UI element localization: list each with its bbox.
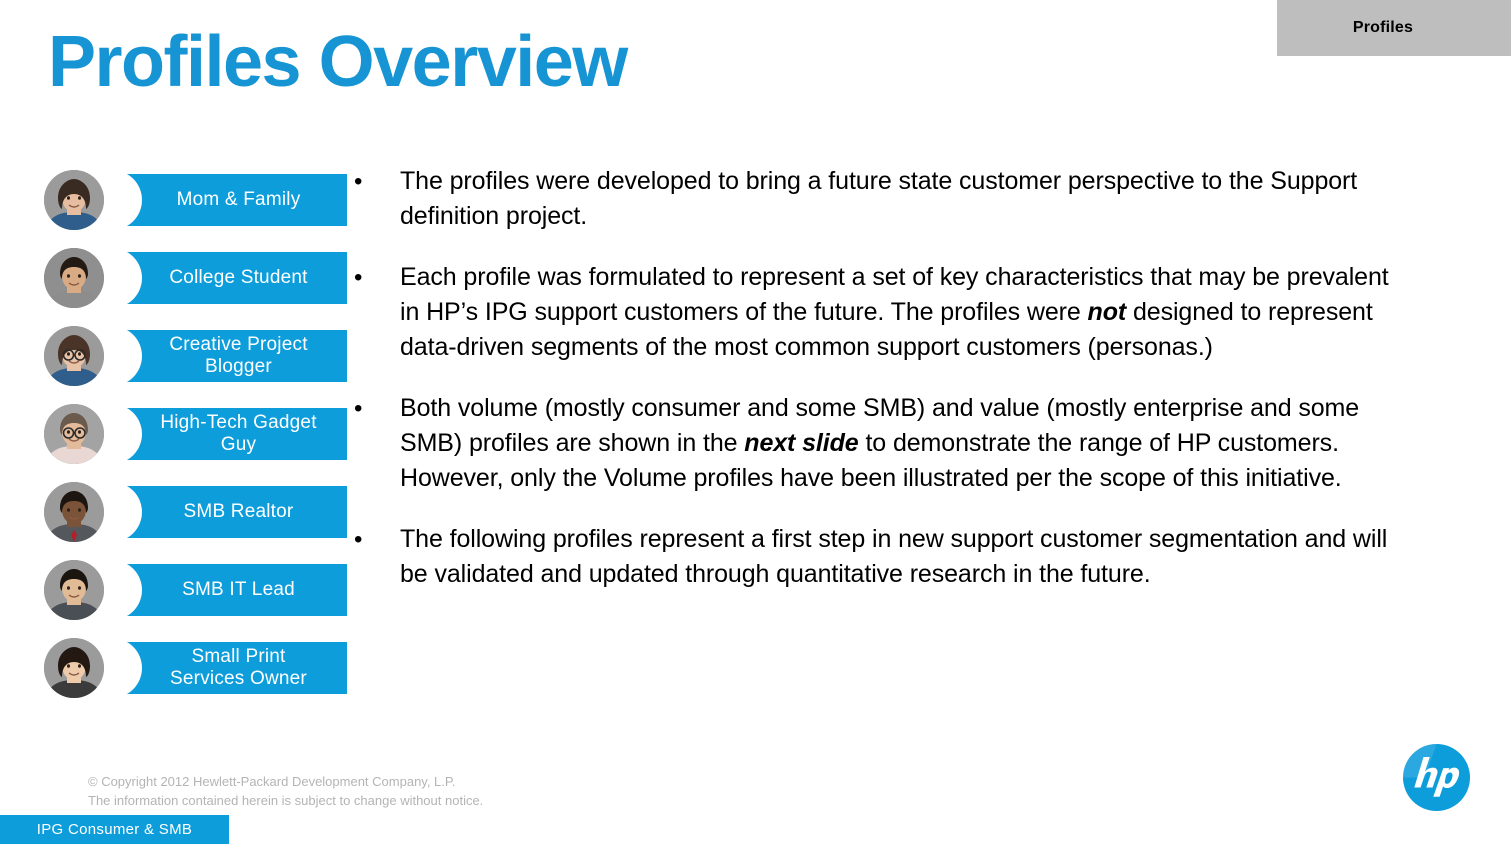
- avatar-high-tech-gadget-guy: [44, 404, 104, 464]
- bullet-marker-icon: •: [348, 164, 400, 200]
- hp-logo: [1403, 744, 1470, 811]
- page-title: Profiles Overview: [48, 26, 627, 98]
- profile-bar-label: Small PrintServices Owner: [170, 646, 307, 690]
- bullet-marker-icon: •: [348, 260, 400, 296]
- profile-item[interactable]: SMB IT Lead: [44, 564, 314, 616]
- footer-bar-label: IPG Consumer & SMB: [0, 821, 229, 838]
- bullet-item: •The following profiles represent a firs…: [348, 522, 1398, 592]
- avatar-smb-it-lead: [44, 560, 104, 620]
- profile-list: Mom & FamilyCollege StudentCreative Proj…: [44, 174, 314, 720]
- avatar-small-print-services-owner: [44, 638, 104, 698]
- bullet-marker-icon: •: [348, 522, 400, 558]
- profile-item[interactable]: Small PrintServices Owner: [44, 642, 314, 694]
- bullet-emphasis: next slide: [744, 429, 858, 457]
- profile-bar-label: SMB Realtor: [184, 501, 294, 523]
- body-copy-list: •The profiles were developed to bring a …: [348, 164, 1398, 618]
- bullet-run: The following profiles represent a first…: [400, 525, 1387, 588]
- avatar-smb-realtor: [44, 482, 104, 542]
- bullet-text: Both volume (mostly consumer and some SM…: [400, 391, 1398, 496]
- bullet-text: The following profiles represent a first…: [400, 522, 1398, 592]
- bullet-item: •Both volume (mostly consumer and some S…: [348, 391, 1398, 496]
- profile-bar-label: Mom & Family: [177, 189, 301, 211]
- avatar-college-student: [44, 248, 104, 308]
- slide-canvas: Profiles Profiles Overview Mom & FamilyC…: [0, 0, 1511, 844]
- bullet-item: •The profiles were developed to bring a …: [348, 164, 1398, 234]
- bullet-run: The profiles were developed to bring a f…: [400, 167, 1357, 230]
- section-tab-label: Profiles: [1277, 19, 1489, 37]
- bullet-text: Each profile was formulated to represent…: [400, 260, 1398, 365]
- profile-bar-label: College Student: [169, 267, 307, 289]
- footer-bar: IPG Consumer & SMB: [0, 815, 229, 844]
- bullet-emphasis: not: [1088, 298, 1127, 326]
- bullet-text: The profiles were developed to bring a f…: [400, 164, 1398, 234]
- section-tab[interactable]: Profiles: [1277, 0, 1511, 56]
- profile-item[interactable]: SMB Realtor: [44, 486, 314, 538]
- avatar-mom-family: [44, 170, 104, 230]
- profile-item[interactable]: Creative ProjectBlogger: [44, 330, 314, 382]
- profile-bar-label: Creative ProjectBlogger: [169, 334, 307, 378]
- profile-item[interactable]: Mom & Family: [44, 174, 314, 226]
- bullet-item: •Each profile was formulated to represen…: [348, 260, 1398, 365]
- bullet-marker-icon: •: [348, 391, 400, 427]
- copyright-text: © Copyright 2012 Hewlett-Packard Develop…: [88, 772, 483, 810]
- profile-bar-label: SMB IT Lead: [182, 579, 295, 601]
- profile-item[interactable]: College Student: [44, 252, 314, 304]
- avatar-creative-project-blogger: [44, 326, 104, 386]
- profile-bar-label: High-Tech GadgetGuy: [160, 412, 316, 456]
- profile-item[interactable]: High-Tech GadgetGuy: [44, 408, 314, 460]
